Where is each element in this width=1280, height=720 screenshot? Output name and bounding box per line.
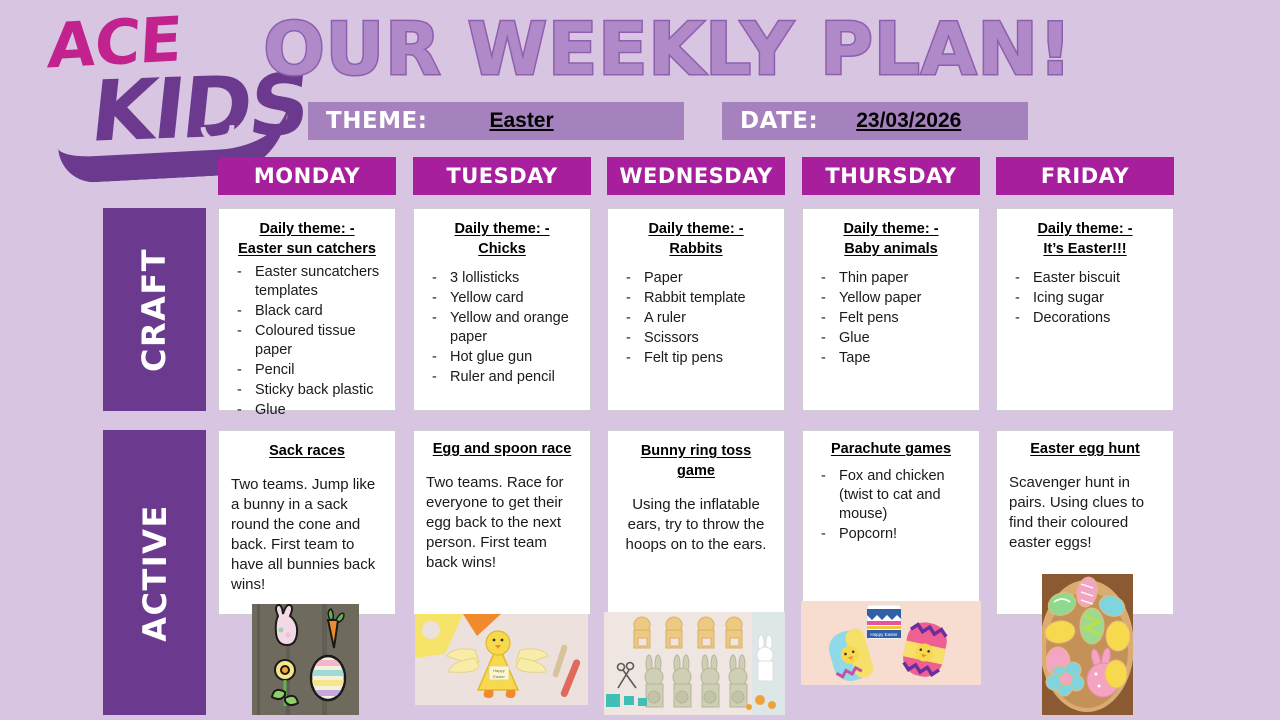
date-field[interactable]: DATE: 23/03/2026: [722, 102, 1028, 140]
day-header-tuesday: TUESDAY: [413, 157, 591, 195]
day-header-monday: MONDAY: [218, 157, 396, 195]
card-title-text: Egg and spoon race: [433, 441, 572, 457]
card-title-line1: Daily theme: -: [843, 221, 938, 237]
egg-cards-illustration: Happy Easter: [801, 601, 981, 685]
card-list: Easter biscuit Icing sugar Decorations: [997, 259, 1173, 328]
card-title: Parachute games: [803, 431, 979, 459]
card-title-text: Easter egg hunt: [1030, 441, 1140, 457]
craft-card-tuesday[interactable]: Daily theme: - Chicks 3 lollisticks Yell…: [413, 208, 591, 411]
list-item: Easter biscuit: [1011, 269, 1165, 288]
paper-chick-illustration: Happy Easter: [415, 614, 588, 705]
card-title-line2: Baby animals: [844, 241, 938, 257]
card-list: Thin paper Yellow paper Felt pens Glue T…: [803, 259, 979, 368]
list-item: Black card: [233, 302, 387, 321]
list-item: Glue: [817, 329, 971, 348]
list-item: Rabbit template: [622, 289, 776, 308]
card-title: Daily theme: - It’s Easter!!!: [997, 209, 1173, 259]
row-label-craft: CRAFT: [103, 208, 206, 411]
list-item: Sticky back plastic: [233, 381, 387, 400]
card-list: Easter suncatchers templates Black card …: [219, 259, 395, 420]
card-body: Two teams. Race for everyone to get thei…: [414, 459, 590, 573]
list-item: Yellow paper: [817, 289, 971, 308]
list-item: Scissors: [622, 329, 776, 348]
card-title: Daily theme: - Rabbits: [608, 209, 784, 259]
list-item: Easter suncatchers templates: [233, 263, 387, 301]
craft-card-monday[interactable]: Daily theme: - Easter sun catchers Easte…: [218, 208, 396, 411]
row-label-active-text: ACTIVE: [136, 504, 174, 642]
active-card-tuesday[interactable]: Egg and spoon race Two teams. Race for e…: [413, 430, 591, 615]
card-title-line2: Easter sun catchers: [238, 241, 376, 257]
page-title: OUR WEEKLY PLAN!: [258, 8, 1078, 90]
row-label-active: ACTIVE: [103, 430, 206, 715]
list-item: Decorations: [1011, 309, 1165, 328]
list-item: Paper: [622, 269, 776, 288]
suncatchers-illustration: [252, 604, 359, 715]
list-item: Ruler and pencil: [428, 368, 582, 387]
card-title: Bunny ring toss game: [608, 431, 784, 481]
card-title-line1: Bunny ring toss: [641, 443, 751, 459]
svg-text:Easter: Easter: [493, 674, 505, 679]
list-item: Fox and chicken (twist to cat and mouse): [817, 467, 971, 524]
card-title-line2: game: [677, 463, 715, 479]
list-item: Glue: [233, 401, 387, 420]
list-item: Felt tip pens: [622, 349, 776, 368]
paper-chick-craft-photo: Happy Easter: [415, 614, 588, 705]
card-body: Using the inflatable ears, try to throw …: [608, 481, 784, 555]
card-title-line2: It’s Easter!!!: [1043, 241, 1126, 257]
card-title-line2: Chicks: [478, 241, 526, 257]
card-title-line1: Daily theme: -: [454, 221, 549, 237]
card-title: Daily theme: - Chicks: [414, 209, 590, 259]
craft-card-wednesday[interactable]: Daily theme: - Rabbits Paper Rabbit temp…: [607, 208, 785, 411]
list-item: Coloured tissue paper: [233, 322, 387, 360]
active-card-wednesday[interactable]: Bunny ring toss game Using the inflatabl…: [607, 430, 785, 615]
theme-field[interactable]: THEME: Easter: [308, 102, 684, 140]
svg-text:Happy Easter: Happy Easter: [870, 632, 898, 637]
date-value[interactable]: 23/03/2026: [856, 109, 961, 133]
svg-text:Happy: Happy: [493, 668, 505, 673]
card-title: Sack races: [219, 431, 395, 461]
craft-card-thursday[interactable]: Daily theme: - Baby animals Thin paper Y…: [802, 208, 980, 411]
card-title-text: Sack races: [269, 443, 345, 459]
list-item: Hot glue gun: [428, 348, 582, 367]
list-item: Felt pens: [817, 309, 971, 328]
list-item: Icing sugar: [1011, 289, 1165, 308]
list-item: 3 lollisticks: [428, 269, 582, 288]
card-body: Two teams. Jump like a bunny in a sack r…: [219, 461, 395, 595]
list-item: Thin paper: [817, 269, 971, 288]
card-title-line1: Daily theme: -: [648, 221, 743, 237]
wooden-bunny-chick-cutouts-photo: [604, 612, 785, 715]
bunny-cutouts-illustration: [604, 612, 785, 715]
card-title-line1: Daily theme: -: [259, 221, 354, 237]
easter-cookies-illustration: [1042, 574, 1133, 715]
active-card-monday[interactable]: Sack races Two teams. Jump like a bunny …: [218, 430, 396, 615]
card-list: 3 lollisticks Yellow card Yellow and ora…: [414, 259, 590, 387]
card-title-line2: Rabbits: [669, 241, 722, 257]
craft-card-friday[interactable]: Daily theme: - It’s Easter!!! Easter bis…: [996, 208, 1174, 411]
day-header-friday: FRIDAY: [996, 157, 1174, 195]
theme-label: THEME:: [308, 108, 427, 134]
active-card-thursday[interactable]: Parachute games Fox and chicken (twist t…: [802, 430, 980, 605]
iced-easter-cookies-photo: [1042, 574, 1133, 715]
list-item: Tape: [817, 349, 971, 368]
card-title: Daily theme: - Baby animals: [803, 209, 979, 259]
list-item: Yellow card: [428, 289, 582, 308]
card-list: Fox and chicken (twist to cat and mouse)…: [803, 459, 979, 544]
list-item: A ruler: [622, 309, 776, 328]
card-title: Daily theme: - Easter sun catchers: [219, 209, 395, 259]
list-item: Popcorn!: [817, 525, 971, 544]
list-item: Pencil: [233, 361, 387, 380]
row-label-craft-text: CRAFT: [136, 247, 174, 371]
card-title: Egg and spoon race: [414, 431, 590, 459]
list-item: Yellow and orange paper: [428, 309, 582, 347]
theme-value[interactable]: Easter: [489, 109, 553, 133]
day-header-thursday: THURSDAY: [802, 157, 980, 195]
day-header-wednesday: WEDNESDAY: [607, 157, 785, 195]
date-label: DATE:: [722, 108, 818, 134]
decorated-easter-egg-cards-photo: Happy Easter: [801, 601, 981, 685]
card-list: Paper Rabbit template A ruler Scissors F…: [608, 259, 784, 368]
easter-suncatchers-photo: [252, 604, 359, 715]
card-title: Easter egg hunt: [997, 431, 1173, 459]
card-body: Scavenger hunt in pairs. Using clues to …: [997, 459, 1173, 553]
card-title-line1: Daily theme: -: [1037, 221, 1132, 237]
card-title-text: Parachute games: [831, 441, 951, 457]
